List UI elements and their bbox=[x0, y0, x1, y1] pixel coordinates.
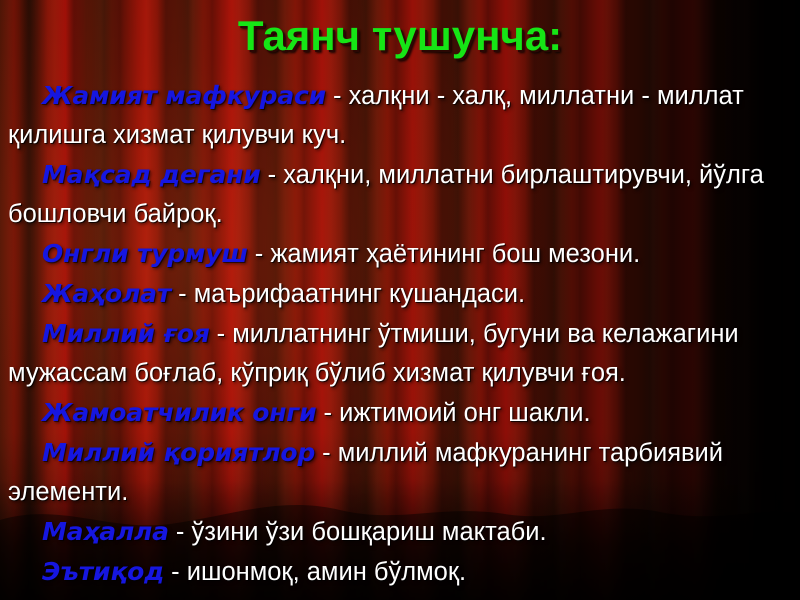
list-item: Миллий ғоя - миллатнинг ўтмиши, бугуни в… bbox=[8, 314, 792, 393]
term-separator: - bbox=[171, 280, 194, 308]
definition-text: маърифаатнинг кушандаси. bbox=[194, 280, 525, 308]
term-label: Эътиқод bbox=[42, 557, 164, 586]
term-separator: - bbox=[261, 161, 284, 189]
definition-text: ижтимоий онг шакли. bbox=[339, 399, 590, 427]
list-item: Жаҳолат - маърифаатнинг кушандаси. bbox=[8, 274, 792, 314]
term-label: Миллий қориятлор bbox=[42, 438, 315, 467]
term-label: Маҳалла bbox=[42, 517, 169, 546]
term-label: Онгли турмуш bbox=[42, 239, 248, 268]
term-separator: - bbox=[316, 399, 339, 427]
term-label: Мақсад дегани bbox=[42, 160, 261, 189]
list-item: Миллий қориятлор - миллий мафкуранинг та… bbox=[8, 433, 792, 512]
term-label: Жамоатчилик онги bbox=[42, 398, 316, 427]
term-label: Миллий ғоя bbox=[42, 319, 210, 348]
definition-text: жамият ҳаётининг бош мезони. bbox=[270, 240, 640, 268]
term-separator: - bbox=[210, 320, 233, 348]
term-separator: - bbox=[326, 82, 349, 110]
term-separator: - bbox=[315, 439, 338, 467]
definitions-list: Жамият мафкураси - халқни - халқ, миллат… bbox=[8, 76, 792, 592]
list-item: Маҳалла - ўзини ўзи бошқариш мактаби. bbox=[8, 512, 792, 552]
list-item: Эътиқод - ишонмоқ, амин бўлмоқ. bbox=[8, 552, 792, 592]
term-label: Жаҳолат bbox=[42, 279, 171, 308]
term-separator: - bbox=[248, 240, 271, 268]
definition-text: ишонмоқ, амин бўлмоқ. bbox=[187, 558, 466, 586]
term-label: Жамият мафкураси bbox=[42, 81, 326, 110]
list-item: Жамоатчилик онги - ижтимоий онг шакли. bbox=[8, 393, 792, 433]
term-separator: - bbox=[164, 558, 187, 586]
presentation-slide: Таянч тушунча: Жамият мафкураси - халқни… bbox=[0, 0, 800, 600]
list-item: Жамият мафкураси - халқни - халқ, миллат… bbox=[8, 76, 792, 155]
definition-text: ўзини ўзи бошқариш мактаби. bbox=[192, 518, 547, 546]
page-title: Таянч тушунча: bbox=[0, 14, 800, 58]
term-separator: - bbox=[169, 518, 192, 546]
list-item: Мақсад дегани - халқни, миллатни бирлашт… bbox=[8, 155, 792, 234]
list-item: Онгли турмуш - жамият ҳаётининг бош мезо… bbox=[8, 234, 792, 274]
